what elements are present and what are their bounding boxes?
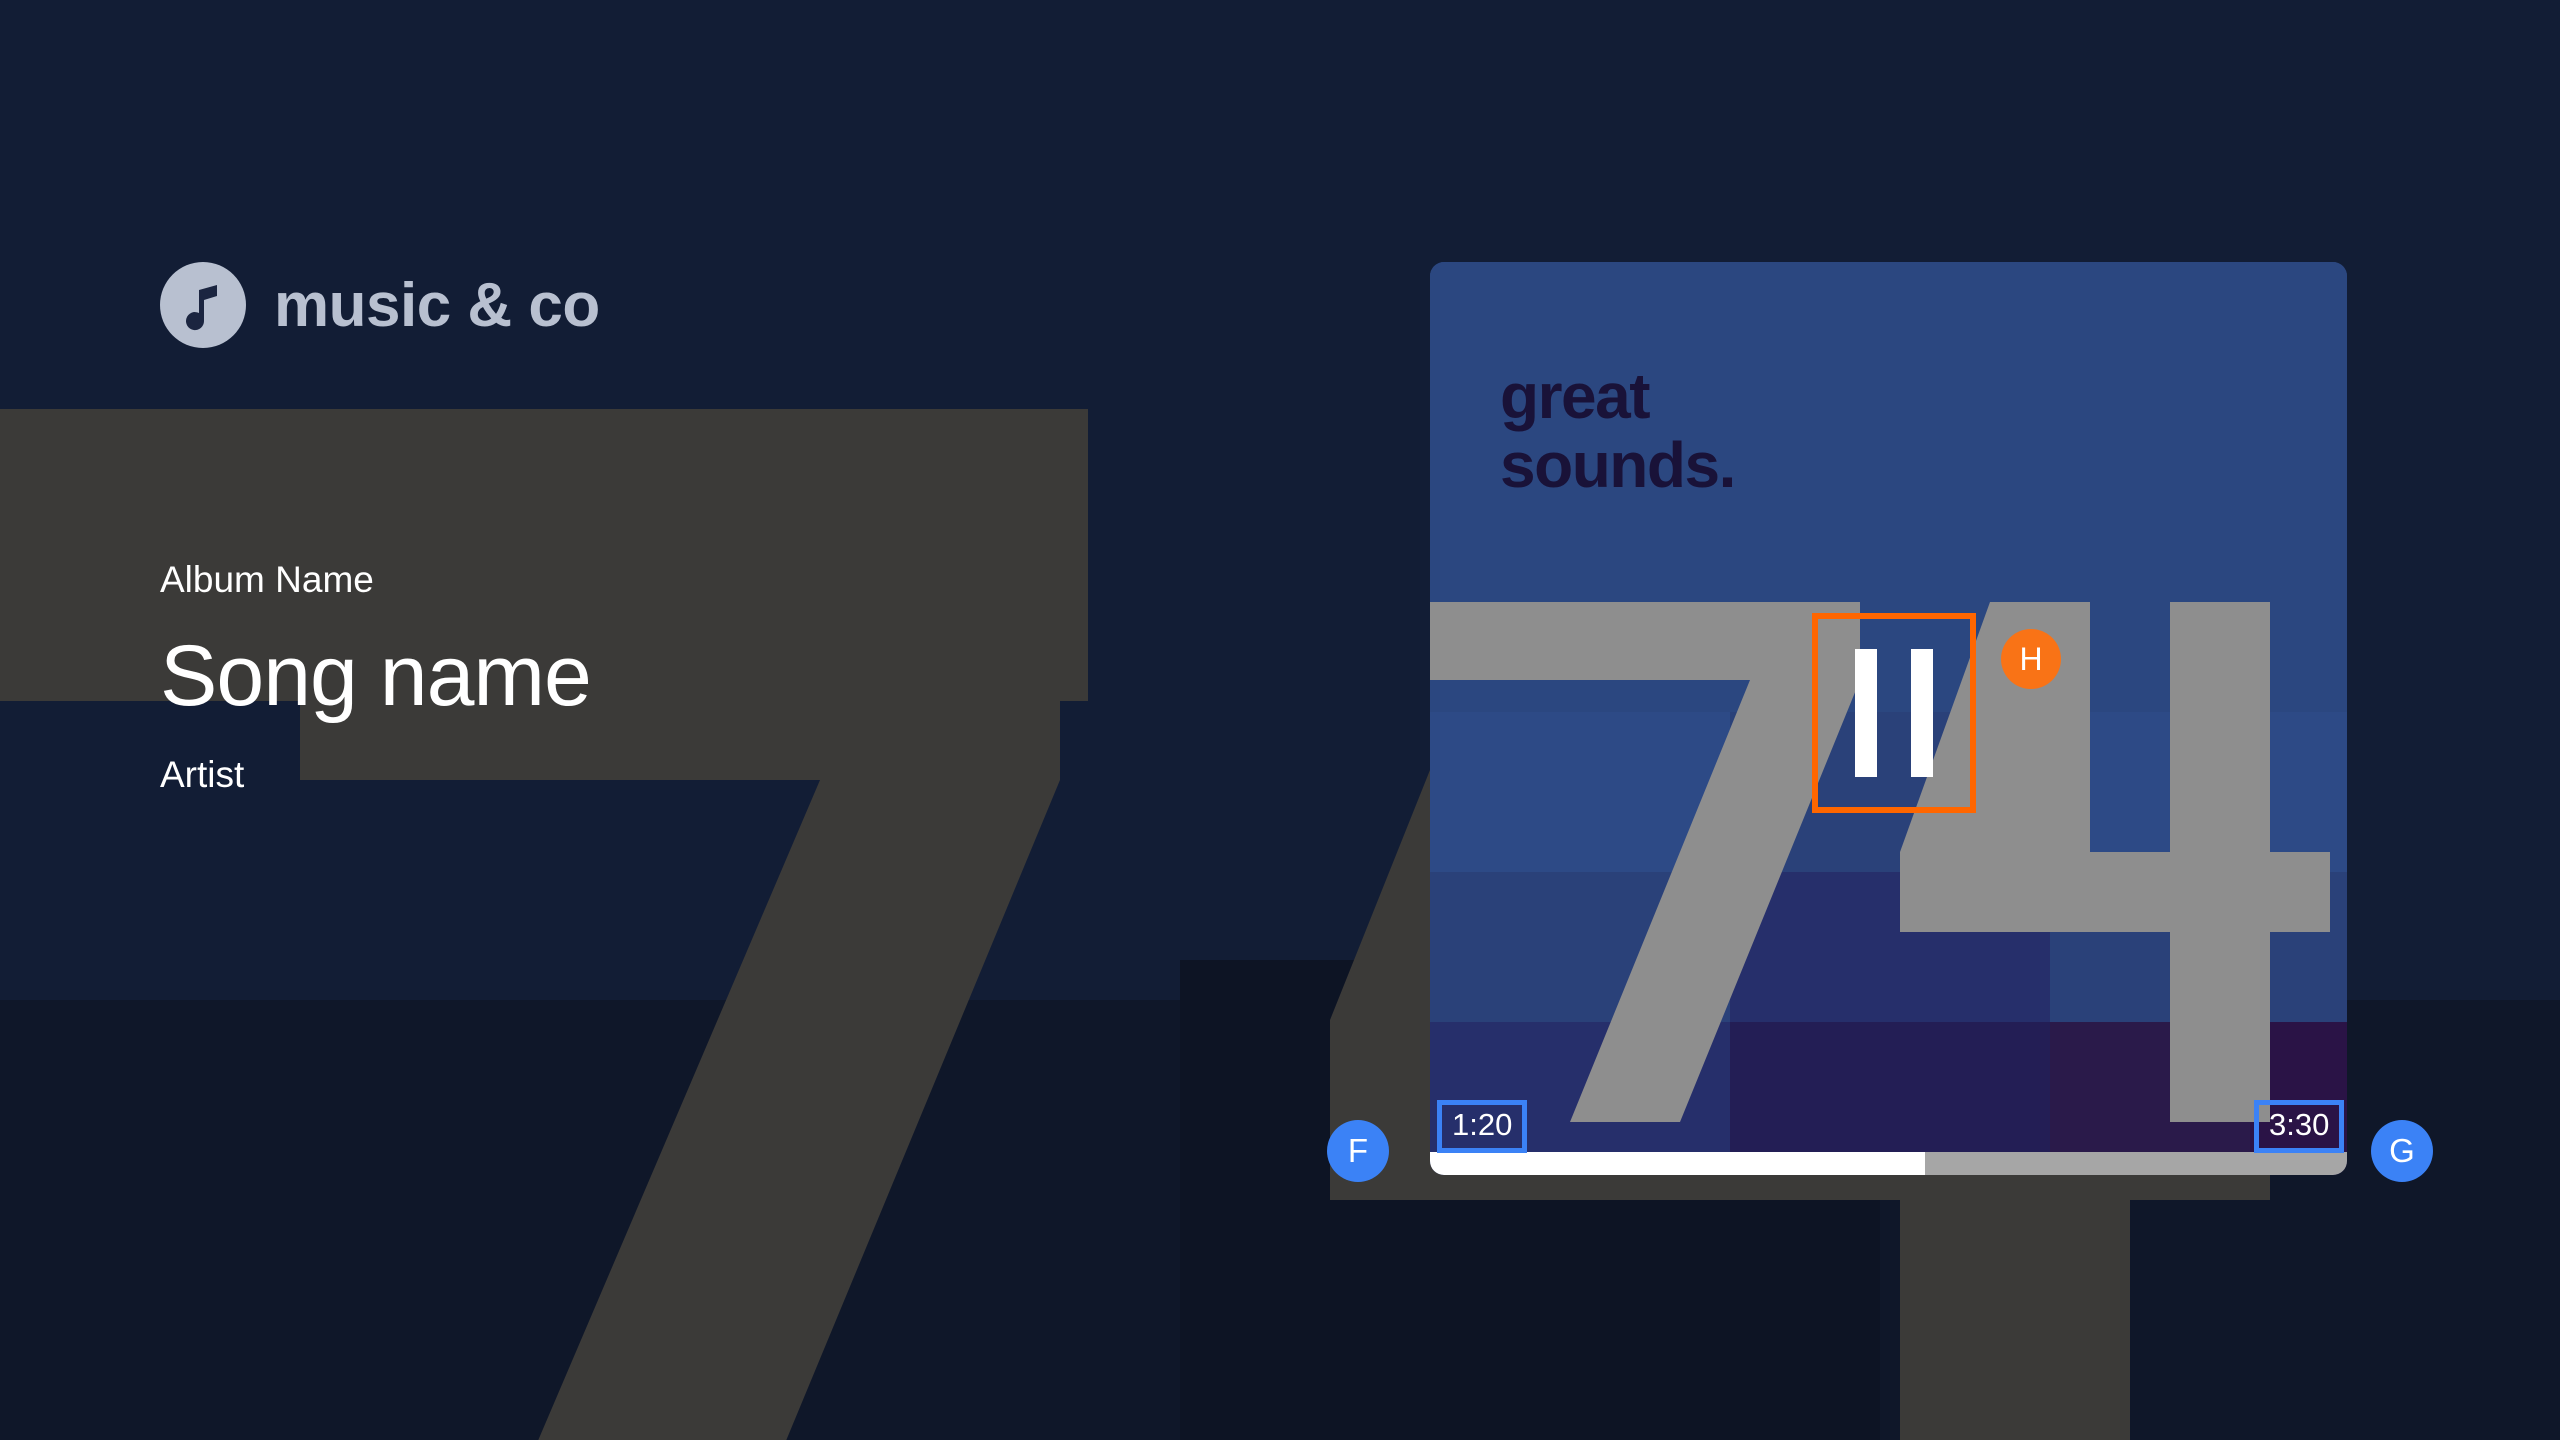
brand-name: music & co: [274, 270, 600, 341]
pause-button-annotation-box: [1812, 613, 1976, 813]
brand-logo[interactable]: music & co: [160, 262, 600, 348]
progress-bar[interactable]: [1430, 1152, 2347, 1175]
album-name: Album Name: [160, 560, 591, 601]
progress-bar-fill: [1430, 1152, 1925, 1175]
total-time-label: 3:30: [2254, 1100, 2344, 1153]
annotation-badge-g: G: [2371, 1120, 2433, 1182]
artist-name: Artist: [160, 755, 591, 796]
annotation-badge-h: H: [2001, 629, 2061, 689]
music-note-icon: [160, 262, 246, 348]
progress-bar-track: [1925, 1152, 2347, 1175]
annotation-badge-f: F: [1327, 1120, 1389, 1182]
album-art-headline: great sounds.: [1500, 362, 1735, 500]
current-time-label: 1:20: [1437, 1100, 1527, 1153]
song-title: Song name: [160, 631, 591, 721]
player-screen: music & co Album Name Song name Artist g…: [0, 0, 2560, 1440]
now-playing-info: Album Name Song name Artist: [160, 560, 591, 796]
